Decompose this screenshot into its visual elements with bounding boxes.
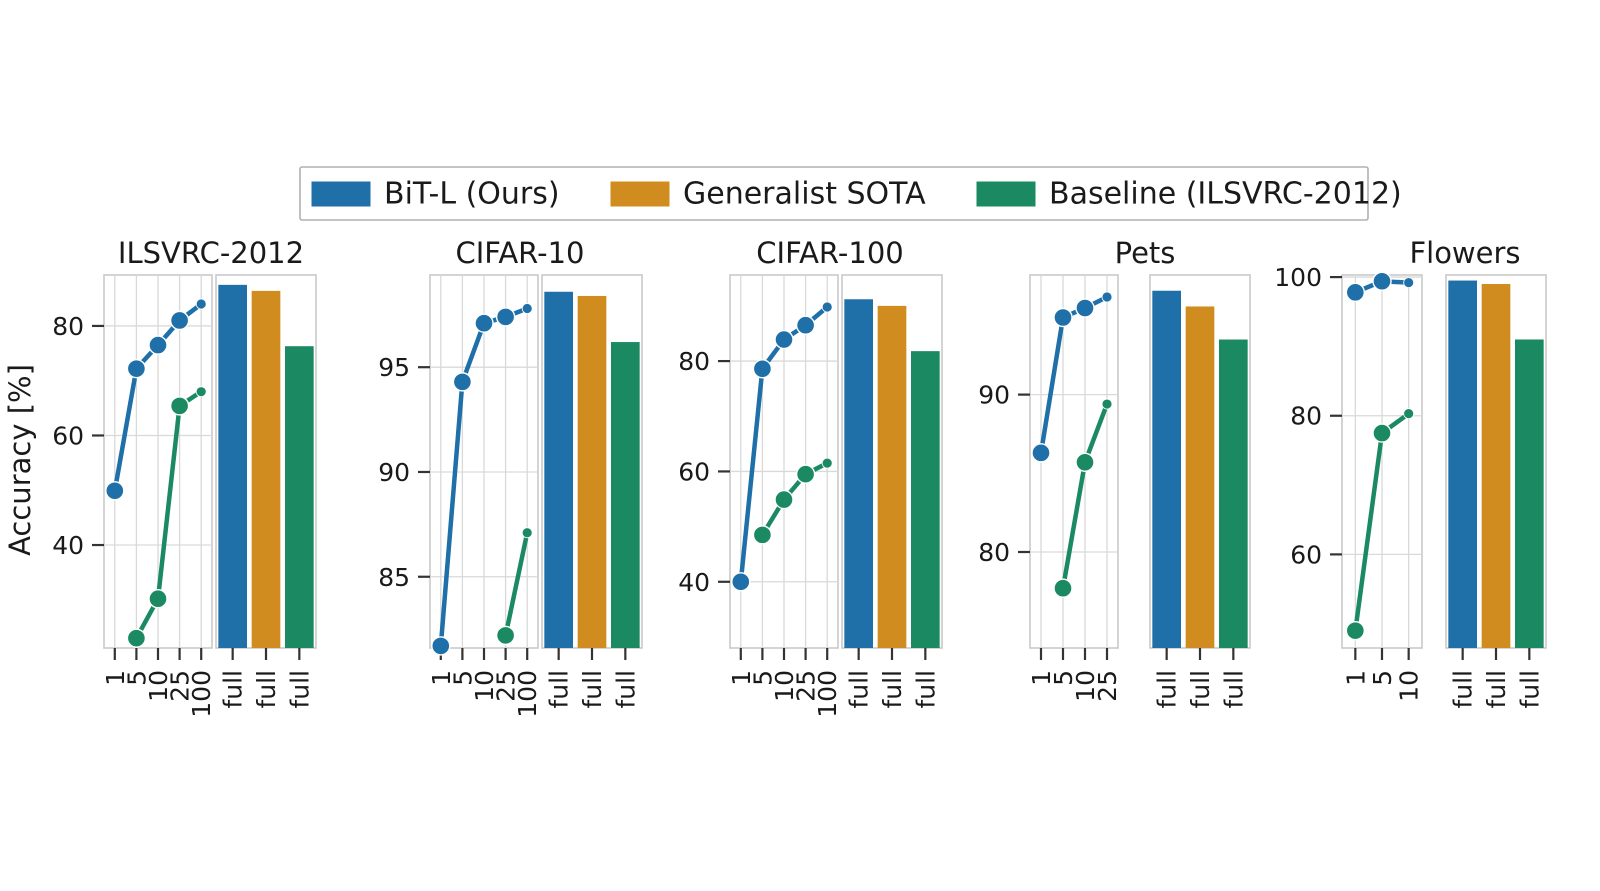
y-tick-label: 80 — [1290, 402, 1322, 431]
line-axes: 151025100959085 — [378, 275, 542, 718]
bar-x-tick-label: full — [219, 670, 248, 709]
bar-x-tick-label: full — [611, 670, 640, 709]
legend-label: Baseline (ILSVRC-2012) — [1049, 177, 1402, 212]
series-marker — [1373, 424, 1391, 442]
legend-entry-0[interactable]: BiT-L (Ours) — [312, 177, 560, 212]
y-tick-label: 80 — [678, 347, 710, 376]
bar — [1482, 284, 1511, 648]
series-marker — [775, 331, 793, 349]
legend-label: Generalist SOTA — [683, 177, 926, 212]
y-tick-label: 80 — [978, 538, 1010, 567]
line-axes: 1510259080 — [978, 275, 1122, 702]
bar — [1515, 339, 1544, 648]
bar — [844, 299, 873, 648]
series-marker — [1054, 308, 1072, 326]
series-marker — [106, 482, 124, 500]
y-tick-label: 60 — [1290, 540, 1322, 569]
panel-1: CIFAR-10151025100959085fullfullfull — [378, 236, 642, 718]
series-marker — [732, 573, 750, 591]
series-marker — [196, 387, 206, 397]
series-marker — [171, 397, 189, 415]
panel-title: ILSVRC-2012 — [118, 236, 304, 270]
series-marker — [1404, 409, 1414, 419]
series-marker — [127, 360, 145, 378]
series-marker — [1346, 283, 1364, 301]
bar-x-tick-label: full — [1153, 670, 1182, 709]
series-marker — [1032, 444, 1050, 462]
bar — [1448, 281, 1477, 648]
series-marker — [522, 528, 532, 538]
bar — [252, 291, 281, 648]
series-marker — [475, 314, 493, 332]
legend-swatch — [312, 182, 370, 206]
bar-axes: fullfullfull — [216, 275, 316, 709]
bar — [911, 351, 940, 648]
bar — [1219, 340, 1248, 648]
bar-x-tick-label: full — [878, 670, 907, 709]
line-axes: 151025100806040 — [678, 275, 842, 718]
y-tick-label: 90 — [978, 381, 1010, 410]
bar-axes: fullfullfull — [842, 275, 942, 709]
series-line — [762, 463, 827, 535]
bar-axes: fullfullfull — [1446, 275, 1546, 709]
bar-x-tick-label: full — [545, 670, 574, 709]
panel-title: CIFAR-10 — [456, 236, 585, 270]
y-tick-label: 95 — [378, 353, 410, 382]
bar-x-tick-label: full — [578, 670, 607, 709]
bar-x-tick-label: full — [845, 670, 874, 709]
y-tick-label: 40 — [52, 531, 84, 560]
series-marker — [775, 491, 793, 509]
accuracy-comparison-chart: BiT-L (Ours)Generalist SOTABaseline (ILS… — [0, 0, 1600, 891]
bar-x-tick-label: full — [1482, 670, 1511, 709]
bar-axes: fullfullfull — [542, 275, 642, 709]
series-marker — [196, 299, 206, 309]
x-tick-label: 100 — [513, 670, 542, 718]
bar — [218, 285, 247, 648]
x-tick-label: 100 — [813, 670, 842, 718]
series-marker — [1404, 278, 1414, 288]
series-marker — [753, 526, 771, 544]
series-marker — [1102, 399, 1112, 409]
series-marker — [497, 308, 515, 326]
series-marker — [432, 637, 450, 655]
legend-entry-1[interactable]: Generalist SOTA — [611, 177, 926, 212]
series-marker — [1076, 453, 1094, 471]
series-marker — [1076, 299, 1094, 317]
panel-title: Flowers — [1409, 236, 1520, 270]
series-marker — [1346, 622, 1364, 640]
bar — [285, 346, 314, 648]
panel-4: Flowers15101008060fullfullfull — [1274, 236, 1546, 709]
series-marker — [497, 626, 515, 644]
panel-grid: ILSVRC-2012151025100806040fullfullfullCI… — [52, 236, 1546, 718]
bar — [578, 296, 607, 648]
figure-canvas: BiT-L (Ours)Generalist SOTABaseline (ILS… — [0, 0, 1600, 891]
legend-swatch — [977, 182, 1035, 206]
x-tick-label: 1 — [1341, 670, 1370, 686]
y-axis-label-text: Accuracy [%] — [3, 364, 37, 556]
series-marker — [753, 360, 771, 378]
y-tick-label: 60 — [678, 457, 710, 486]
panel-title: CIFAR-100 — [756, 236, 903, 270]
y-tick-label: 85 — [378, 563, 410, 592]
bar-axes: fullfullfull — [1150, 275, 1250, 709]
bar-x-tick-label: full — [285, 670, 314, 709]
bar-x-tick-label: full — [1219, 670, 1248, 709]
line-axes: 15101008060 — [1274, 263, 1423, 702]
y-tick-label: 40 — [678, 568, 710, 597]
legend-swatch — [611, 182, 669, 206]
series-marker — [149, 590, 167, 608]
series-marker — [797, 465, 815, 483]
x-tick-label: 5 — [1368, 670, 1397, 686]
series-line — [506, 533, 528, 636]
series-marker — [1373, 272, 1391, 290]
series-marker — [1102, 292, 1112, 302]
y-tick-label: 80 — [52, 312, 84, 341]
x-tick-label: 100 — [187, 670, 216, 718]
panel-3: Pets1510259080fullfullfull — [978, 236, 1250, 709]
y-tick-label: 90 — [378, 458, 410, 487]
series-marker — [127, 629, 145, 647]
series-marker — [453, 373, 471, 391]
series-marker — [797, 316, 815, 334]
bar-x-tick-label: full — [1449, 670, 1478, 709]
series-marker — [822, 302, 832, 312]
x-tick-label: 10 — [1395, 670, 1424, 702]
bar — [878, 306, 907, 648]
series-marker — [171, 311, 189, 329]
bar-x-tick-label: full — [1515, 670, 1544, 709]
bar-x-tick-label: full — [1186, 670, 1215, 709]
y-tick-label: 60 — [52, 421, 84, 450]
legend-label: BiT-L (Ours) — [384, 177, 560, 212]
series-marker — [149, 336, 167, 354]
series-marker — [1054, 579, 1072, 597]
bar-x-tick-label: full — [911, 670, 940, 709]
panel-2: CIFAR-100151025100806040fullfullfull — [678, 236, 942, 718]
series-line — [136, 392, 201, 638]
bar — [1186, 306, 1215, 648]
bar-x-tick-label: full — [252, 670, 281, 709]
bar — [1152, 291, 1181, 648]
panel-0: ILSVRC-2012151025100806040fullfullfull — [52, 236, 316, 718]
y-tick-label: 100 — [1274, 263, 1322, 292]
chart-legend: BiT-L (Ours)Generalist SOTABaseline (ILS… — [300, 167, 1402, 220]
bar — [544, 292, 573, 648]
series-marker — [522, 304, 532, 314]
series-marker — [822, 458, 832, 468]
y-axis-label: Accuracy [%] — [3, 364, 37, 556]
panel-title: Pets — [1115, 236, 1176, 270]
line-axes: 151025100806040 — [52, 275, 216, 718]
bar — [611, 342, 640, 648]
x-tick-label: 25 — [1093, 670, 1122, 702]
